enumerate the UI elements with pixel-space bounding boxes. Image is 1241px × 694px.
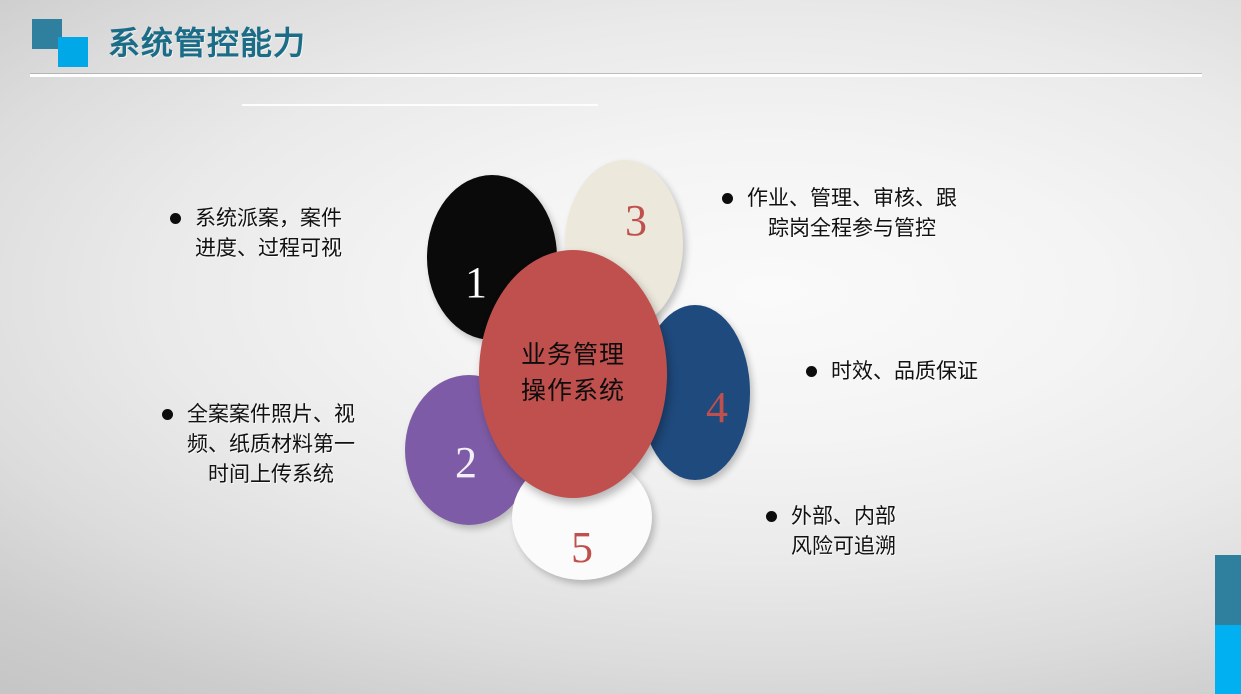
page-title: 系统管控能力 <box>108 18 306 64</box>
center-oval-line1: 业务管理 <box>521 338 625 374</box>
center-oval-line2: 操作系统 <box>521 374 625 410</box>
corner-block-cyan <box>1215 625 1241 694</box>
secondary-divider <box>242 104 598 106</box>
bullet-right-mid: 时效、品质保证 <box>806 357 1046 387</box>
petal-1-number: 1 <box>465 261 487 305</box>
bullet-right-top: 作业、管理、审核、跟 踪岗全程参与管控 <box>722 184 1042 244</box>
petal-2-number: 2 <box>455 441 477 485</box>
bullet-dot-icon <box>806 366 817 377</box>
bullet-right-top-text: 作业、管理、审核、跟 踪岗全程参与管控 <box>747 184 957 244</box>
slide-canvas: 系统管控能力 1 3 2 4 5 业务管理 操作系统 系统派案，案件 进度、过程… <box>0 0 1241 694</box>
bullet-dot-icon <box>170 213 181 224</box>
bullet-left-top: 系统派案，案件 进度、过程可视 <box>170 204 410 264</box>
bullet-right-bottom-text: 外部、内部 风险可追溯 <box>791 502 896 562</box>
bullet-dot-icon <box>722 193 733 204</box>
corner-block-teal <box>1215 555 1241 625</box>
bullet-left-bottom-text: 全案案件照片、视 频、纸质材料第一 时间上传系统 <box>187 400 355 489</box>
bullet-right-mid-text: 时效、品质保证 <box>831 357 978 387</box>
header-square-light-icon <box>58 37 88 67</box>
petal-4-number: 4 <box>706 386 728 430</box>
bullet-left-top-text: 系统派案，案件 进度、过程可视 <box>195 204 342 264</box>
bullet-dot-icon <box>162 409 173 420</box>
bullet-right-bottom: 外部、内部 风险可追溯 <box>766 502 986 562</box>
petal-3-number: 3 <box>625 199 647 243</box>
bullet-left-bottom: 全案案件照片、视 频、纸质材料第一 时间上传系统 <box>162 400 414 489</box>
center-oval: 业务管理 操作系统 <box>479 250 667 498</box>
bullet-dot-icon <box>766 511 777 522</box>
petal-5-number: 5 <box>571 526 593 570</box>
title-divider <box>30 74 1202 77</box>
